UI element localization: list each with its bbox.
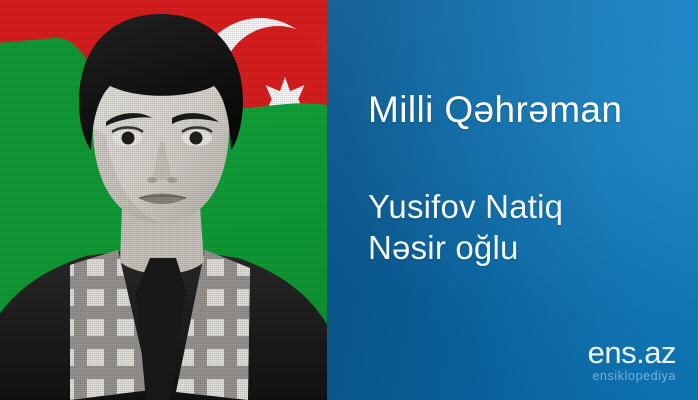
person-name-line-1: Yusifov Natiq bbox=[368, 186, 563, 227]
hero-banner: Milli Qəhrəman Yusifov Natiq Nəsir oğlu … bbox=[0, 0, 698, 400]
page-title: Milli Qəhrəman bbox=[368, 88, 622, 132]
logo-tagline: ensiklopediya bbox=[588, 370, 676, 383]
logo-wordmark: ens.az bbox=[588, 337, 676, 368]
person-name-line-2: Nəsir oğlu bbox=[368, 227, 563, 268]
portrait-figure bbox=[0, 0, 327, 400]
site-logo[interactable]: ens.az ensiklopediya bbox=[588, 337, 676, 383]
person-name: Yusifov Natiq Nəsir oğlu bbox=[368, 186, 563, 268]
hero-photo bbox=[0, 0, 327, 400]
